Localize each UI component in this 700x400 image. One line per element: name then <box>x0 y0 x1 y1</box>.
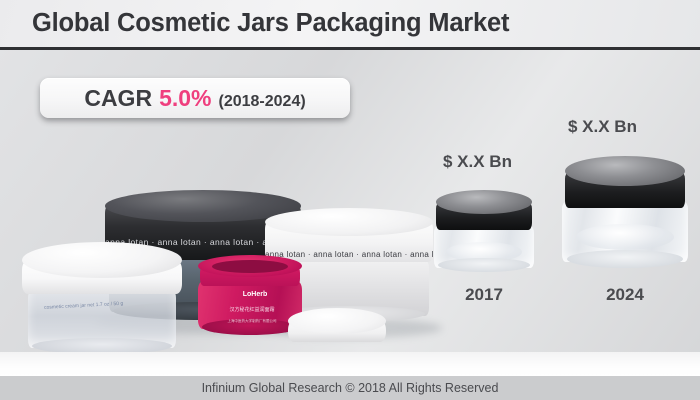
footer-spacer <box>0 352 700 376</box>
year-label-2017: 2017 <box>432 285 536 305</box>
footer-bar: Infinium Global Research © 2018 All Righ… <box>0 376 700 400</box>
copyright-text: Infinium Global Research © 2018 All Righ… <box>202 381 499 395</box>
jar-base <box>438 258 530 272</box>
jar-clear-white-lid: cosmetic cream jar net 1.7 oz / 50 g <box>22 242 182 350</box>
jar-inner-dome <box>576 224 674 250</box>
cagr-period: (2018-2024) <box>219 93 306 110</box>
cagr-value: 5.0% <box>159 85 211 111</box>
infographic-root: Global Cosmetic Jars Packaging Market CA… <box>0 0 700 400</box>
cagr-label: CAGR <box>84 85 152 111</box>
year-label-2024: 2024 <box>560 285 690 305</box>
jar-base <box>567 250 683 268</box>
jar-logo-text: LoHerb <box>226 291 284 299</box>
value-label-2024: $ X.X Bn <box>568 117 637 137</box>
jar-lid-top <box>565 156 685 186</box>
jar-fineprint-text: 上海中医药大学制药厂有限公司 <box>216 319 288 324</box>
header-bar: Global Cosmetic Jars Packaging Market <box>0 0 700 49</box>
cagr-badge-content: CAGR5.0%(2018-2024) <box>84 87 305 110</box>
loose-white-lid <box>288 308 386 350</box>
jar-lid-top <box>436 190 532 214</box>
jar-pink: LoHerb 汉方秘花红益润面霜 上海中医药大学制药厂有限公司 <box>198 255 302 341</box>
jar-subtitle-text: 汉方秘花红益润面霜 <box>212 307 292 313</box>
lid-top <box>288 308 386 334</box>
page-title: Global Cosmetic Jars Packaging Market <box>32 9 509 38</box>
comparison-jar-2017 <box>432 190 536 274</box>
jar-lid-top <box>22 242 182 278</box>
jar-lid-top <box>265 208 433 236</box>
jar-opening <box>212 260 288 273</box>
value-label-2017: $ X.X Bn <box>443 152 512 172</box>
cagr-badge: CAGR5.0%(2018-2024) <box>40 78 350 118</box>
header-divider <box>0 47 700 50</box>
comparison-jar-2024 <box>560 156 690 274</box>
